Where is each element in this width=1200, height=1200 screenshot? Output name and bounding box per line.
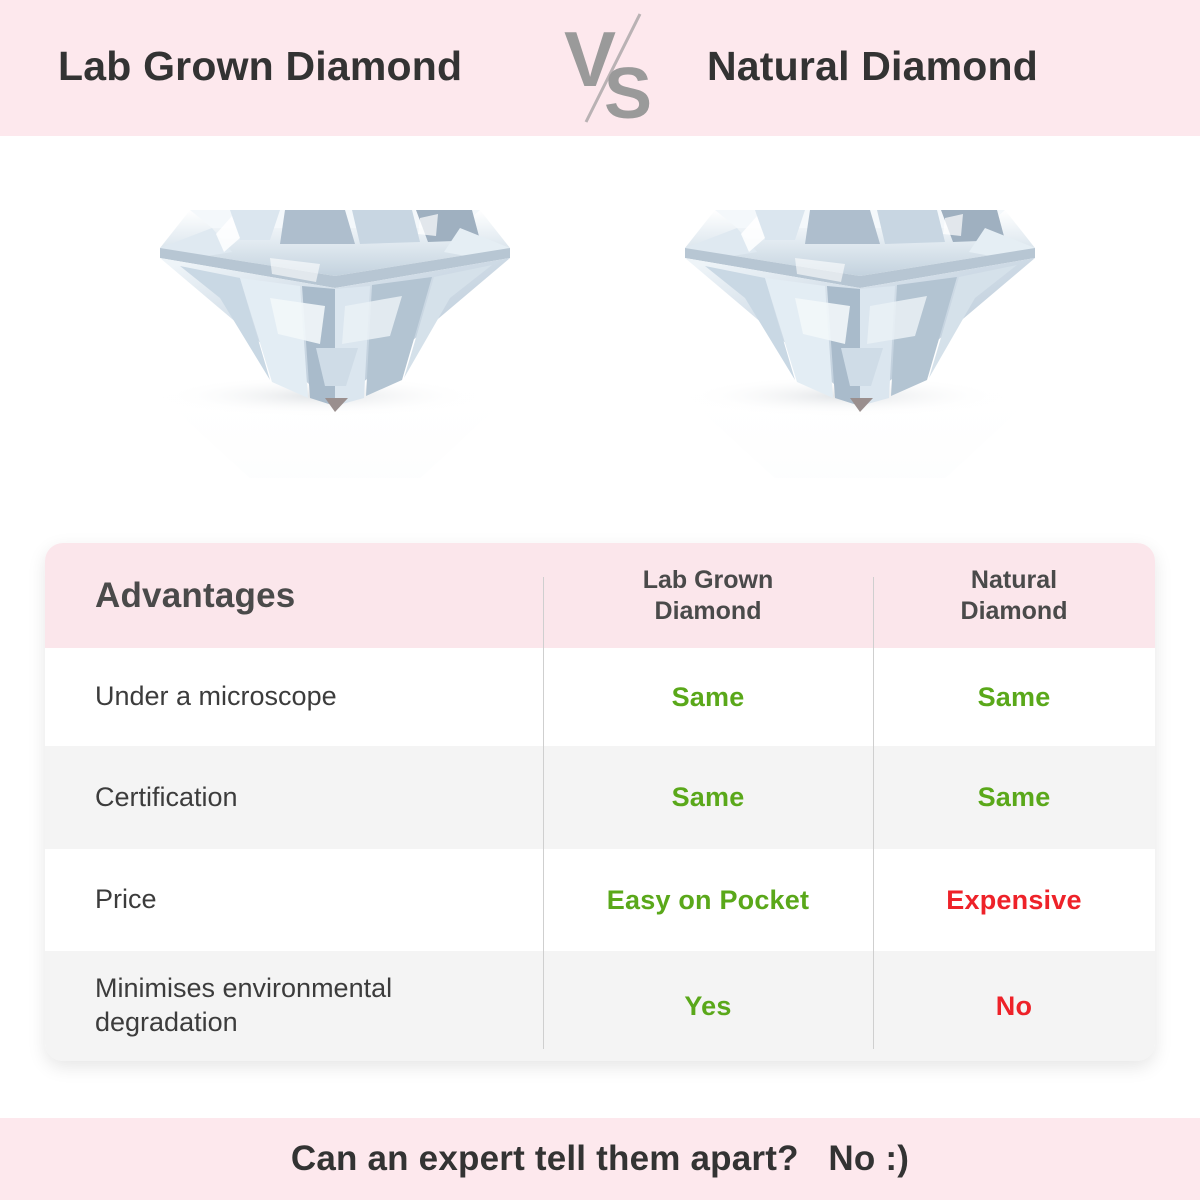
table-header-title: Advantages [95, 576, 295, 616]
row-value-lab-grown-text: Yes [684, 991, 731, 1022]
column-divider-1 [543, 577, 544, 1049]
row-label-text: Certification [95, 781, 238, 815]
header-cell-natural: Natural Diamond [873, 543, 1155, 648]
row-label-cell: Certification [45, 746, 543, 849]
header-cell-advantages: Advantages [45, 543, 543, 648]
header-title-lab-grown: Lab Grown Diamond [58, 43, 462, 90]
natural-diamond-image [645, 148, 1075, 478]
row-value-lab-grown: Same [543, 746, 873, 849]
row-label-cell: Price [45, 849, 543, 951]
row-label-text-line1: Minimises environmental [95, 973, 392, 1003]
comparison-card: Advantages Lab Grown Diamond Natural Dia… [45, 543, 1155, 1061]
comparison-table: Advantages Lab Grown Diamond Natural Dia… [45, 543, 1155, 1061]
row-value-natural-text: Expensive [946, 885, 1081, 916]
row-value-lab-grown: Yes [543, 951, 873, 1061]
table-row: Price Easy on Pocket Expensive [45, 849, 1155, 951]
row-value-lab-grown: Easy on Pocket [543, 849, 873, 951]
diamond-images-area [0, 136, 1200, 536]
row-label-text-line2: degradation [95, 1007, 238, 1037]
row-label-text: Price [95, 883, 157, 917]
footer-question: Can an expert tell them apart? No :) [291, 1139, 909, 1179]
svg-text:S: S [604, 54, 652, 128]
header-inner: Lab Grown Diamond V S Natural Diamond [0, 0, 1200, 136]
table-row: Certification Same Same [45, 746, 1155, 849]
header-band: Lab Grown Diamond V S Natural Diamond [0, 0, 1200, 136]
row-value-lab-grown-text: Easy on Pocket [607, 885, 809, 916]
footer-band: Can an expert tell them apart? No :) [0, 1118, 1200, 1200]
header-cell-lab-grown: Lab Grown Diamond [543, 543, 873, 648]
row-value-natural-text: Same [978, 782, 1051, 813]
table-row: Under a microscope Same Same [45, 648, 1155, 746]
header-label-lab-grown-line2: Diamond [655, 597, 762, 625]
row-value-natural: Expensive [873, 849, 1155, 951]
row-value-natural: Same [873, 746, 1155, 849]
row-value-lab-grown: Same [543, 648, 873, 746]
row-label-cell: Under a microscope [45, 648, 543, 746]
header-label-natural-line2: Diamond [961, 597, 1068, 625]
row-value-lab-grown-text: Same [672, 782, 745, 813]
header-label-natural: Natural Diamond [961, 565, 1068, 626]
row-label-text: Minimises environmental degradation [95, 972, 392, 1040]
row-label-cell: Minimises environmental degradation [45, 951, 543, 1061]
row-value-natural-text: Same [978, 682, 1051, 713]
column-divider-2 [873, 577, 874, 1049]
row-label-text: Under a microscope [95, 680, 337, 714]
row-value-natural-text: No [996, 991, 1032, 1022]
header-label-lab-grown: Lab Grown Diamond [643, 565, 774, 626]
vs-divider-icon: V S [556, 8, 664, 128]
table-row: Minimises environmental degradation Yes … [45, 951, 1155, 1061]
row-value-natural: Same [873, 648, 1155, 746]
table-header-row: Advantages Lab Grown Diamond Natural Dia… [45, 543, 1155, 648]
header-title-natural: Natural Diamond [707, 43, 1038, 90]
row-value-lab-grown-text: Same [672, 682, 745, 713]
header-label-lab-grown-line1: Lab Grown [643, 566, 774, 594]
lab-grown-diamond-image [120, 148, 550, 478]
header-label-natural-line1: Natural [971, 566, 1057, 594]
row-value-natural: No [873, 951, 1155, 1061]
